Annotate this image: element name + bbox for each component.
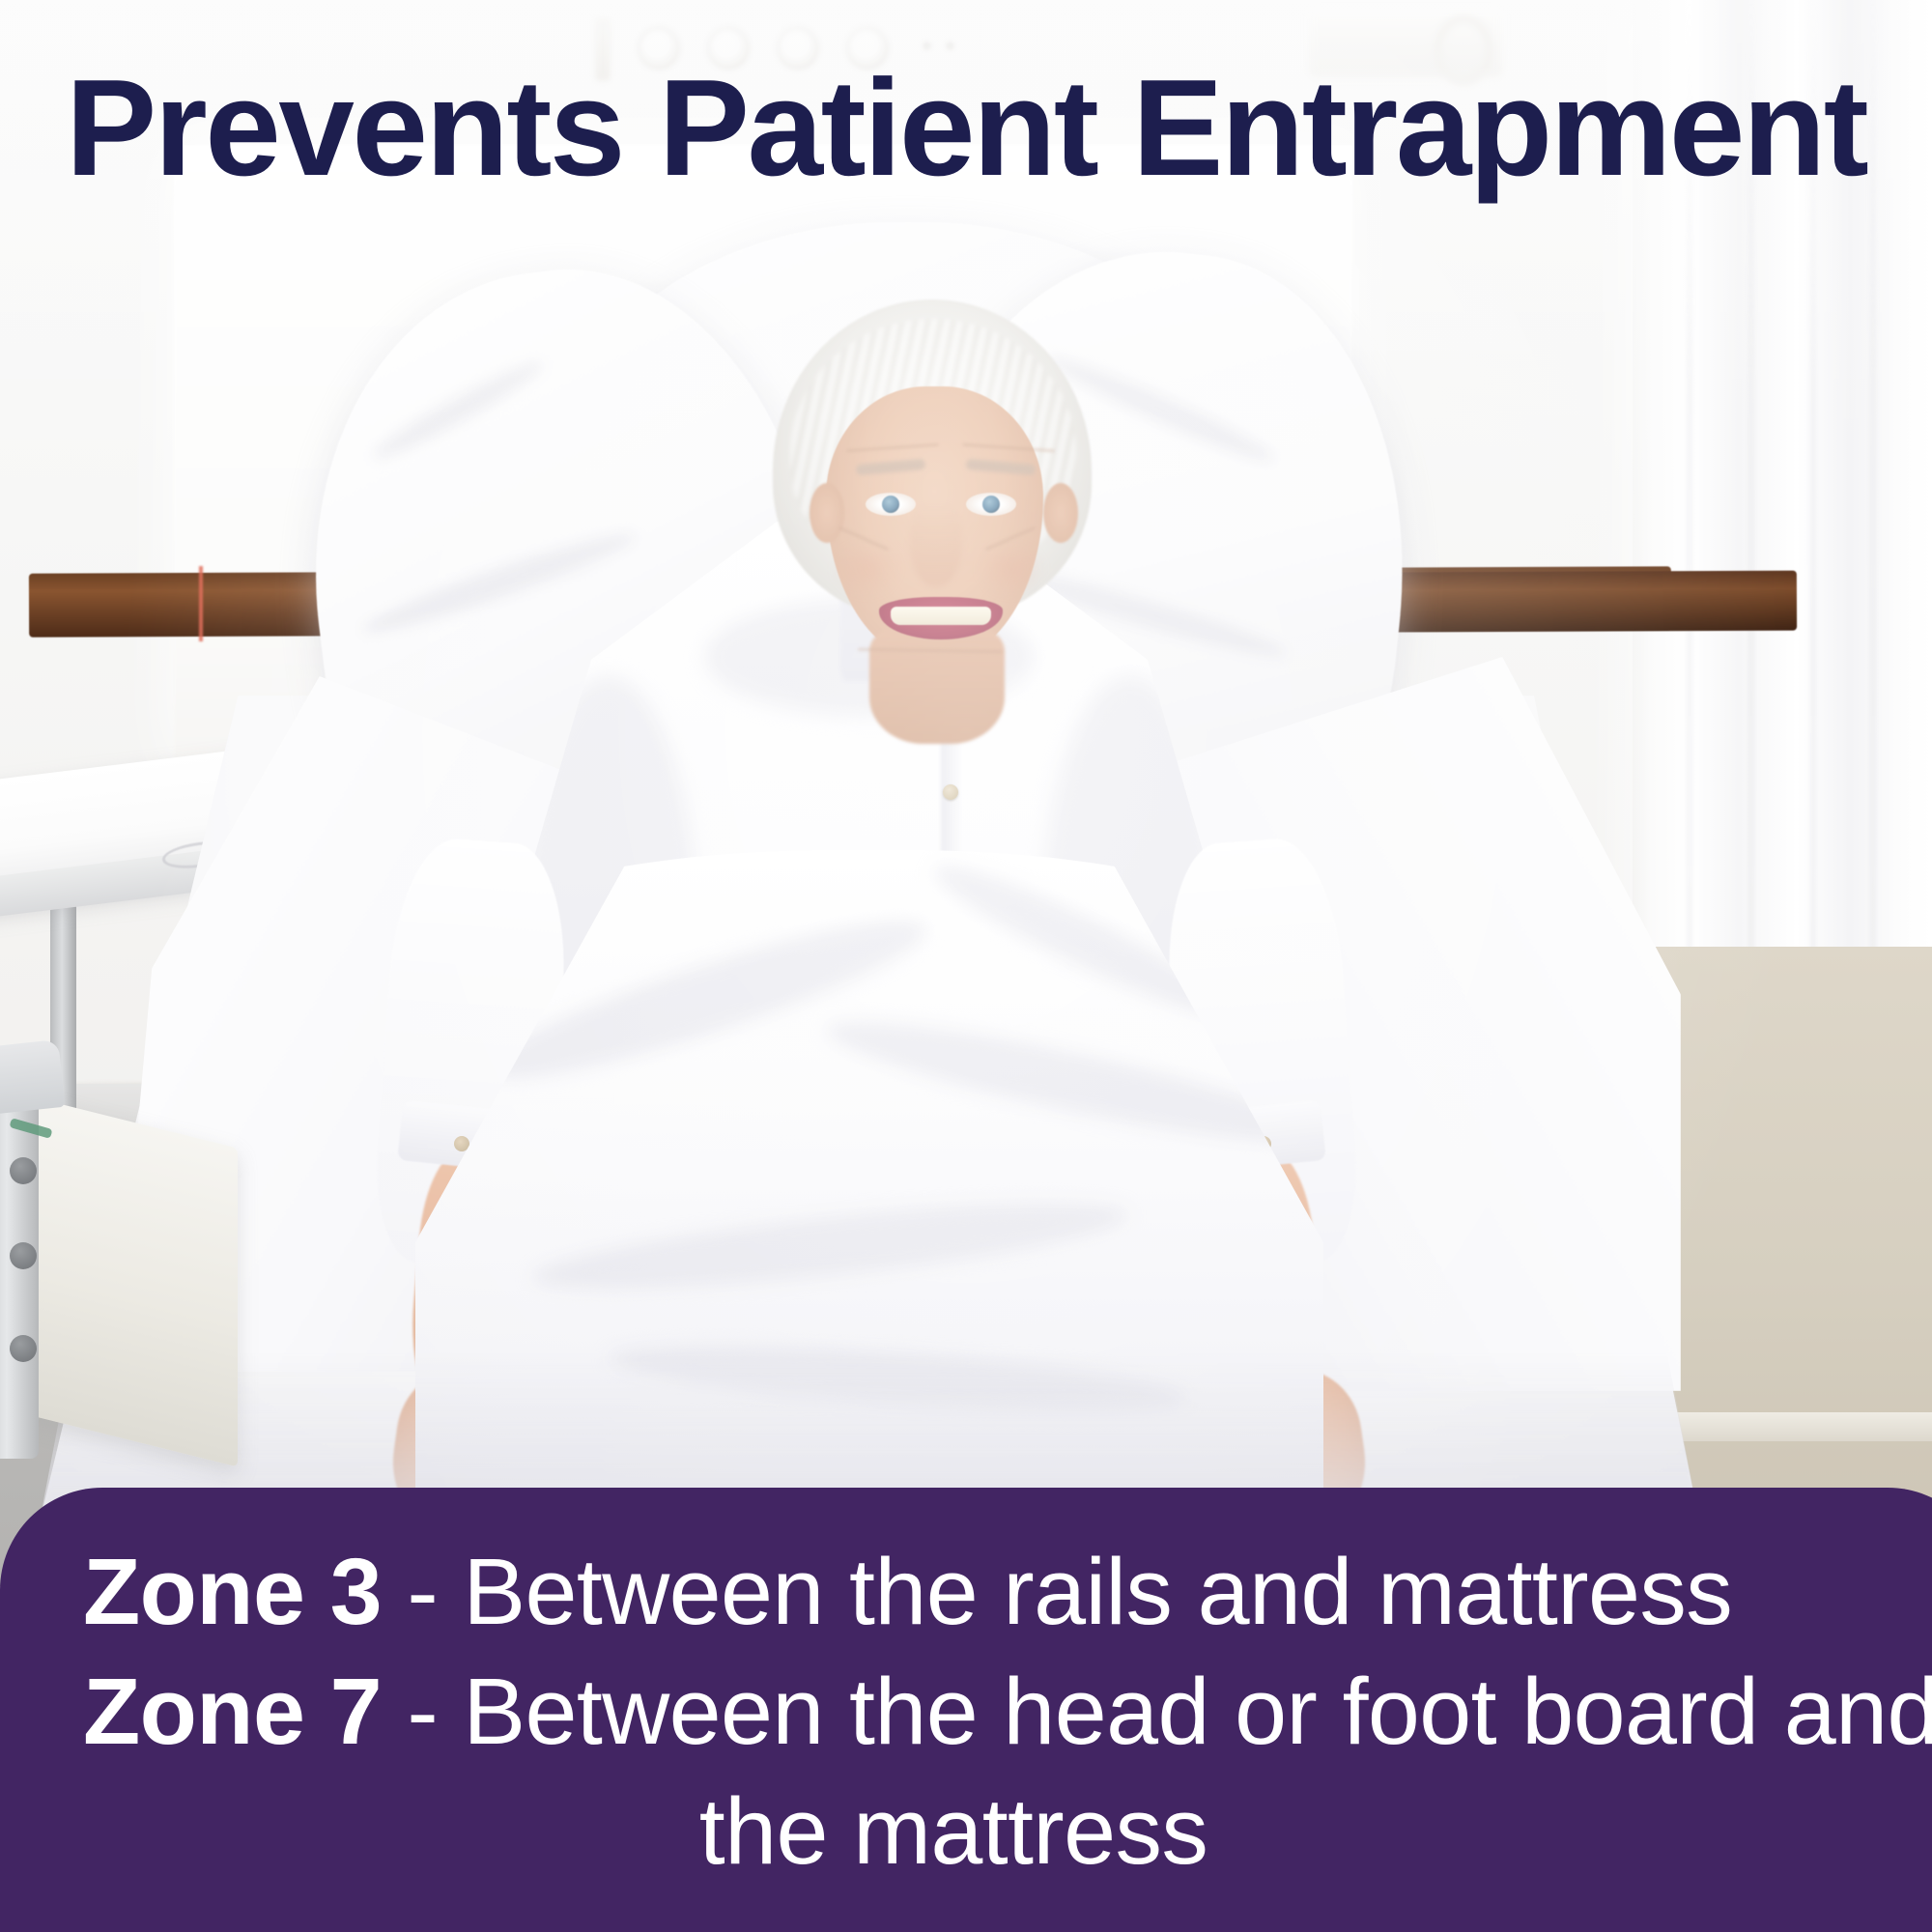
page-title: Prevents Patient Entrapment	[66, 60, 1873, 197]
zone-3-label: Zone 3	[83, 1539, 382, 1644]
poster-canvas: Prevents Patient Entrapment Zone 3 - Bet…	[0, 0, 1932, 1932]
zone-7-description-continued: the mattress	[699, 1778, 1208, 1884]
zone-7-separator: -	[382, 1659, 463, 1764]
zone-line-2: Zone 7 - Between the head or foot board …	[83, 1652, 1882, 1772]
cheek-left	[833, 541, 900, 597]
bed-side-rail-panel	[15, 1093, 238, 1466]
red-cord	[199, 566, 203, 641]
zone-7-label: Zone 7	[83, 1659, 382, 1764]
zone-7-description: Between the head or foot board and	[463, 1659, 1932, 1764]
gown-button	[943, 784, 958, 800]
patient-neck	[869, 628, 1005, 744]
zone-3-description: Between the rails and mattress	[463, 1539, 1732, 1644]
ear-left	[810, 483, 844, 543]
bed-rail-knob	[10, 1242, 37, 1269]
zone-line-1: Zone 3 - Between the rails and mattress	[83, 1532, 1882, 1652]
eye-left	[866, 493, 916, 516]
ear-right	[1043, 483, 1078, 543]
zone-3-separator: -	[382, 1539, 463, 1644]
zone-callout-banner: Zone 3 - Between the rails and mattress …	[0, 1488, 1932, 1932]
zone-line-3: the mattress	[25, 1772, 1882, 1891]
bed-side-rail-cap	[0, 1039, 65, 1115]
nose	[910, 502, 962, 587]
zone-callout-text-block: Zone 3 - Between the rails and mattress …	[83, 1532, 1882, 1891]
bed-rail-knob	[10, 1335, 37, 1362]
bed-rail-knob	[10, 1157, 37, 1184]
eye-right	[966, 493, 1016, 516]
